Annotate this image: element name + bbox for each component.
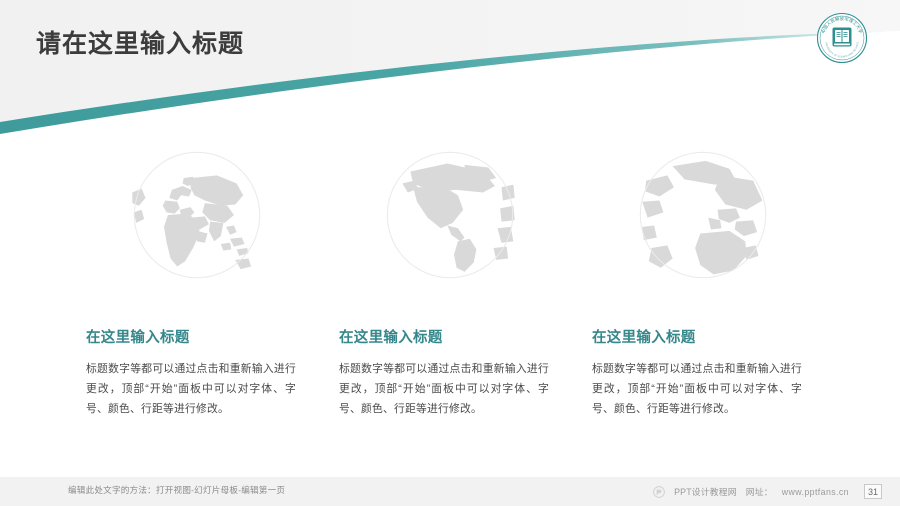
footer-edit-hint: 编辑此处文字的方法：打开视图-幻灯片母板-编辑第一页 (68, 484, 285, 496)
column-heading: 在这里输入标题 (592, 330, 696, 347)
column-body-text: 标题数字等都可以通过点击和重新输入进行更改，顶部“开始”面板中可以对字体、字号、… (592, 360, 802, 420)
page-number: 31 (864, 484, 882, 499)
footer-url-label: 网址： (746, 485, 773, 498)
footer-url[interactable]: www.pptfans.cn (782, 487, 849, 497)
university-circular-emblem-icon: 中国人民解放军理工大学 PLA UNIVERSITY OF SCIENCE AN… (816, 12, 868, 64)
globe-eurasia-africa-icon (131, 149, 263, 281)
globe-atlantic-europe-africa-icon (637, 149, 769, 281)
page-title: 请在这里输入标题 (36, 24, 244, 60)
column-body-text: 标题数字等都可以通过点击和重新输入进行更改，顶部“开始”面板中可以对字体、字号、… (339, 360, 549, 420)
pptfans-logo-icon (653, 486, 665, 498)
header-decoration (0, 0, 900, 140)
content-column-3: 在这里输入标题 标题数字等都可以通过点击和重新输入进行更改，顶部“开始”面板中可… (592, 132, 814, 432)
column-heading: 在这里输入标题 (339, 330, 443, 347)
content-column-2: 在这里输入标题 标题数字等都可以通过点击和重新输入进行更改，顶部“开始”面板中可… (339, 132, 561, 432)
globe-slot-3 (592, 132, 814, 298)
content-column-1: 在这里输入标题 标题数字等都可以通过点击和重新输入进行更改，顶部“开始”面板中可… (86, 132, 308, 432)
footer-site-name: PPT设计教程网 (674, 485, 737, 498)
globe-slot-2 (339, 132, 561, 298)
column-heading: 在这里输入标题 (86, 330, 190, 347)
footer-credit: PPT设计教程网 网址： www.pptfans.cn 31 (653, 484, 882, 499)
content-columns: 在这里输入标题 标题数字等都可以通过点击和重新输入进行更改，顶部“开始”面板中可… (0, 132, 900, 432)
column-body-text: 标题数字等都可以通过点击和重新输入进行更改，顶部“开始”面板中可以对字体、字号、… (86, 360, 296, 420)
globe-slot-1 (86, 132, 308, 298)
slide-canvas: 请在这里输入标题 中国人民解放军理工大学 PLA UNIVERSITY OF S… (0, 0, 900, 506)
header-gray-band (0, 0, 900, 122)
globe-americas-icon (384, 149, 516, 281)
